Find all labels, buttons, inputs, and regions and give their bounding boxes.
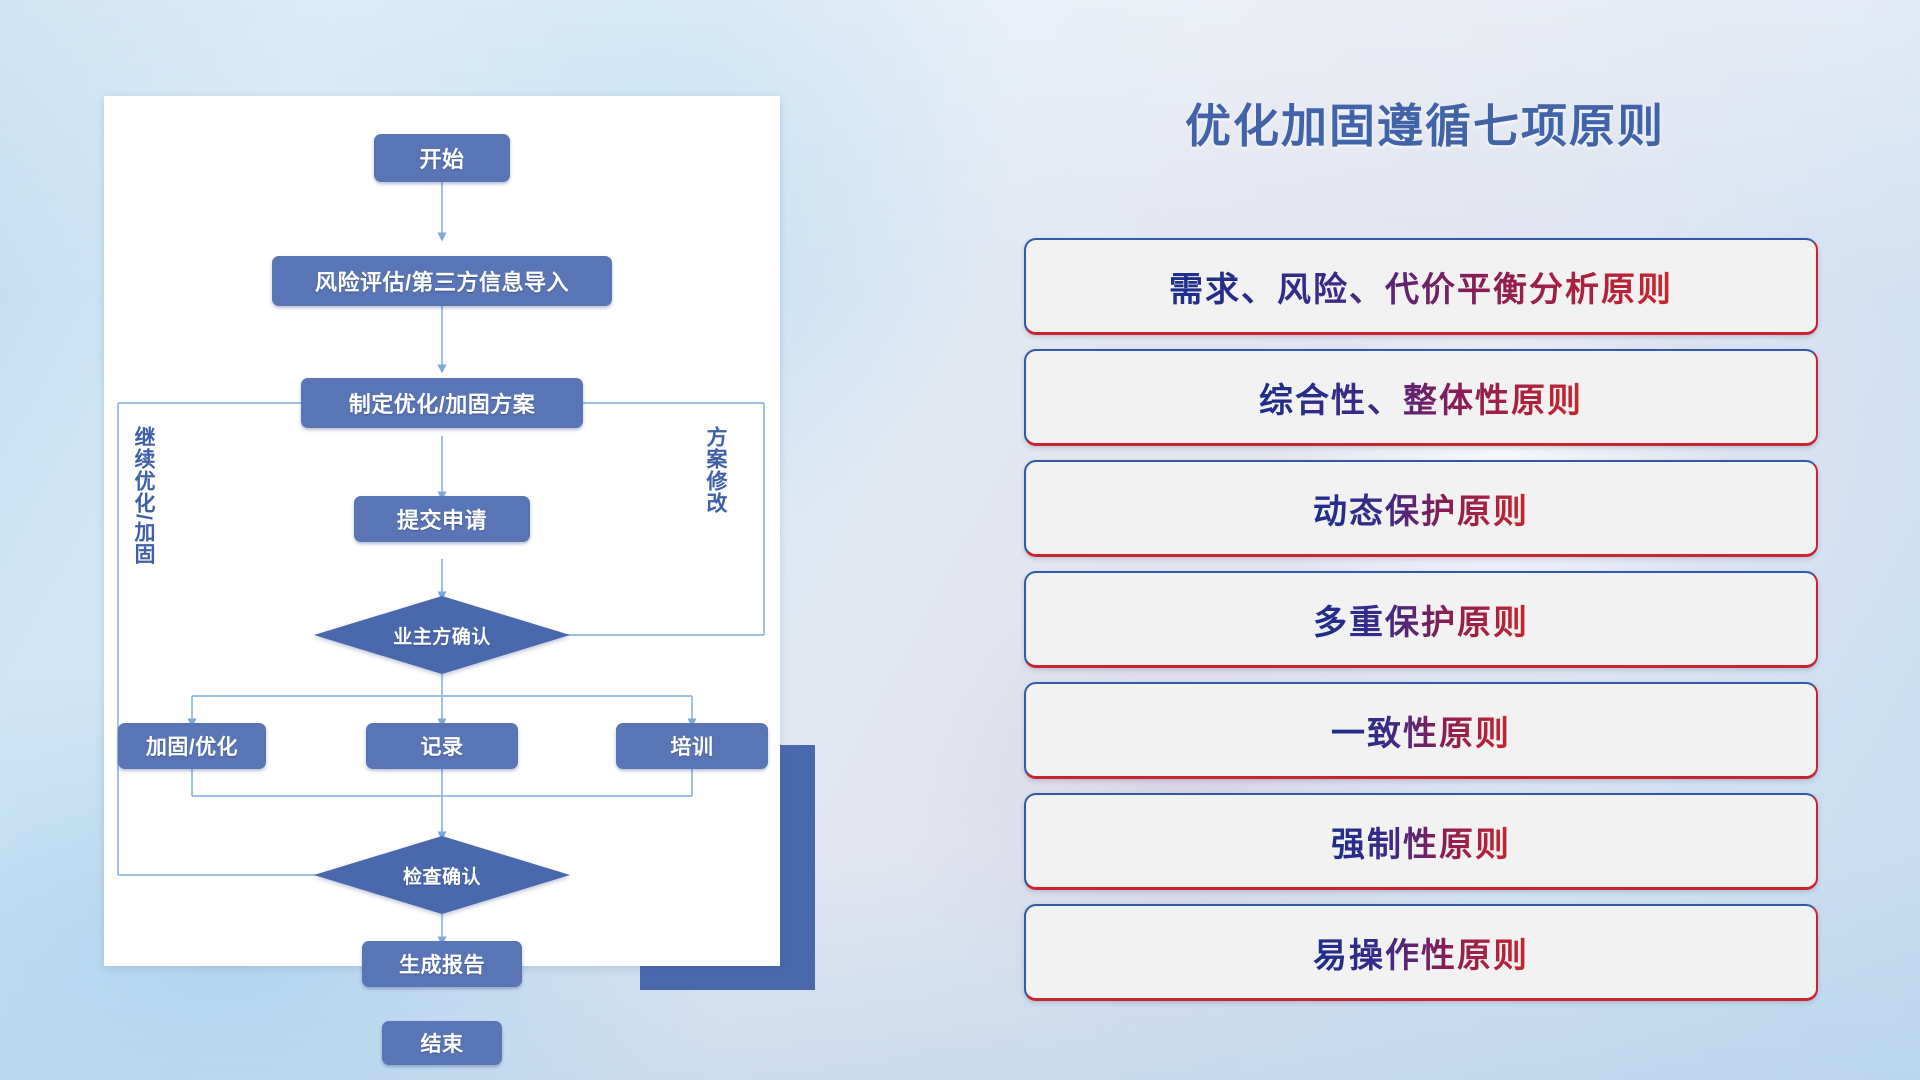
flow-node-label: 开始 <box>419 142 464 174</box>
principle-card-3[interactable]: 动态保护原则 <box>1024 460 1818 557</box>
flow-node-reinforce[interactable]: 加固/优化 <box>118 723 266 769</box>
flow-edge-label-right: 方案修改 <box>704 426 726 556</box>
principle-card-6[interactable]: 强制性原则 <box>1024 793 1818 890</box>
flow-node-label: 加固/优化 <box>146 731 238 761</box>
flow-node-start[interactable]: 开始 <box>374 134 510 182</box>
principle-card-2[interactable]: 综合性、整体性原则 <box>1024 349 1818 446</box>
principles-panel: 优化加固遵循七项原则 需求、风险、代价平衡分析原则 综合性、整体性原则 动态保护… <box>1010 90 1840 1020</box>
flow-node-label: 提交申请 <box>397 503 487 535</box>
flow-node-end[interactable]: 结束 <box>382 1021 502 1065</box>
flow-node-plan[interactable]: 制定优化/加固方案 <box>301 378 583 428</box>
panel-title: 优化加固遵循七项原则 <box>1010 90 1840 156</box>
flow-node-label: 风险评估/第三方信息导入 <box>315 265 569 297</box>
flow-edge-label-left: 继续优化/加固 <box>132 426 154 616</box>
flow-node-label: 业主方确认 <box>393 622 491 649</box>
principle-card-1[interactable]: 需求、风险、代价平衡分析原则 <box>1024 238 1818 335</box>
principle-label: 强制性原则 <box>1331 817 1511 866</box>
principle-label: 需求、风险、代价平衡分析原则 <box>1169 262 1673 311</box>
principle-label: 多重保护原则 <box>1313 595 1529 644</box>
flow-node-label: 培训 <box>671 731 714 761</box>
flow-node-risk-assessment[interactable]: 风险评估/第三方信息导入 <box>272 256 612 306</box>
flow-node-check-confirm[interactable]: 检查确认 <box>314 836 570 914</box>
principle-label: 易操作性原则 <box>1313 928 1529 977</box>
principle-label: 动态保护原则 <box>1313 484 1529 533</box>
flow-node-label: 生成报告 <box>399 949 485 979</box>
principle-card-7[interactable]: 易操作性原则 <box>1024 904 1818 1001</box>
flow-node-report[interactable]: 生成报告 <box>362 941 522 987</box>
flowchart-card: 开始 风险评估/第三方信息导入 制定优化/加固方案 提交申请 业主方确认 加固/… <box>104 96 780 966</box>
principle-card-5[interactable]: 一致性原则 <box>1024 682 1818 779</box>
flow-node-label: 制定优化/加固方案 <box>349 387 536 419</box>
flow-node-record[interactable]: 记录 <box>366 723 518 769</box>
flow-node-label: 结束 <box>421 1028 464 1058</box>
principle-label: 一致性原则 <box>1331 706 1511 755</box>
flow-node-label: 检查确认 <box>403 862 481 889</box>
flow-node-submit[interactable]: 提交申请 <box>354 496 530 542</box>
principle-card-4[interactable]: 多重保护原则 <box>1024 571 1818 668</box>
flow-node-owner-confirm[interactable]: 业主方确认 <box>314 596 570 674</box>
flow-node-training[interactable]: 培训 <box>616 723 768 769</box>
flow-node-label: 记录 <box>421 731 464 761</box>
principle-label: 综合性、整体性原则 <box>1259 373 1583 422</box>
